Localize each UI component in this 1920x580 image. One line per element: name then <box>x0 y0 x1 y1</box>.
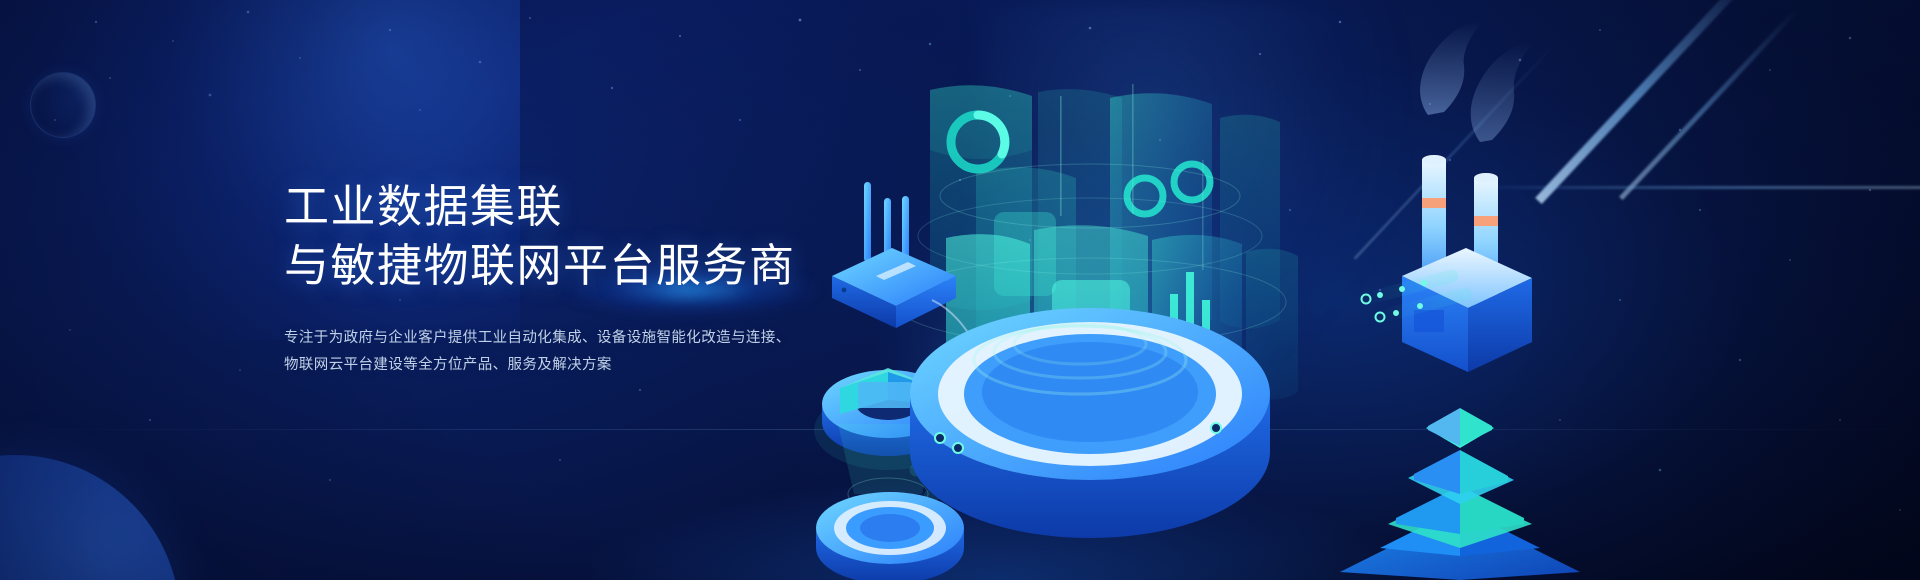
base-disc <box>816 492 964 580</box>
factory-smokestacks <box>1402 22 1534 372</box>
subtitle-line-2: 物联网云平台建设等全方位产品、服务及解决方案 <box>284 352 844 379</box>
hero-illustration <box>780 0 1920 580</box>
planet-shape <box>0 455 180 580</box>
headline-line-1: 工业数据集联 <box>284 180 563 233</box>
page-title: 工业数据集联 与敏捷物联网平台服务商 <box>284 178 844 295</box>
moon-icon <box>30 72 96 138</box>
hero-banner: 工业数据集联 与敏捷物联网平台服务商 专注于为政府与企业客户提供工业自动化集成、… <box>0 0 1920 580</box>
hero-subtitle: 专注于为政府与企业客户提供工业自动化集成、设备设施智能化改造与连接、 物联网云平… <box>284 325 844 379</box>
subtitle-line-1: 专注于为政府与企业客户提供工业自动化集成、设备设施智能化改造与连接、 <box>284 325 844 352</box>
hero-copy: 工业数据集联 与敏捷物联网平台服务商 专注于为政府与企业客户提供工业自动化集成、… <box>284 148 844 393</box>
cylinder-platform <box>882 288 1298 538</box>
headline-line-2: 与敏捷物联网平台服务商 <box>284 237 844 296</box>
pyramid-chart <box>1340 408 1580 580</box>
